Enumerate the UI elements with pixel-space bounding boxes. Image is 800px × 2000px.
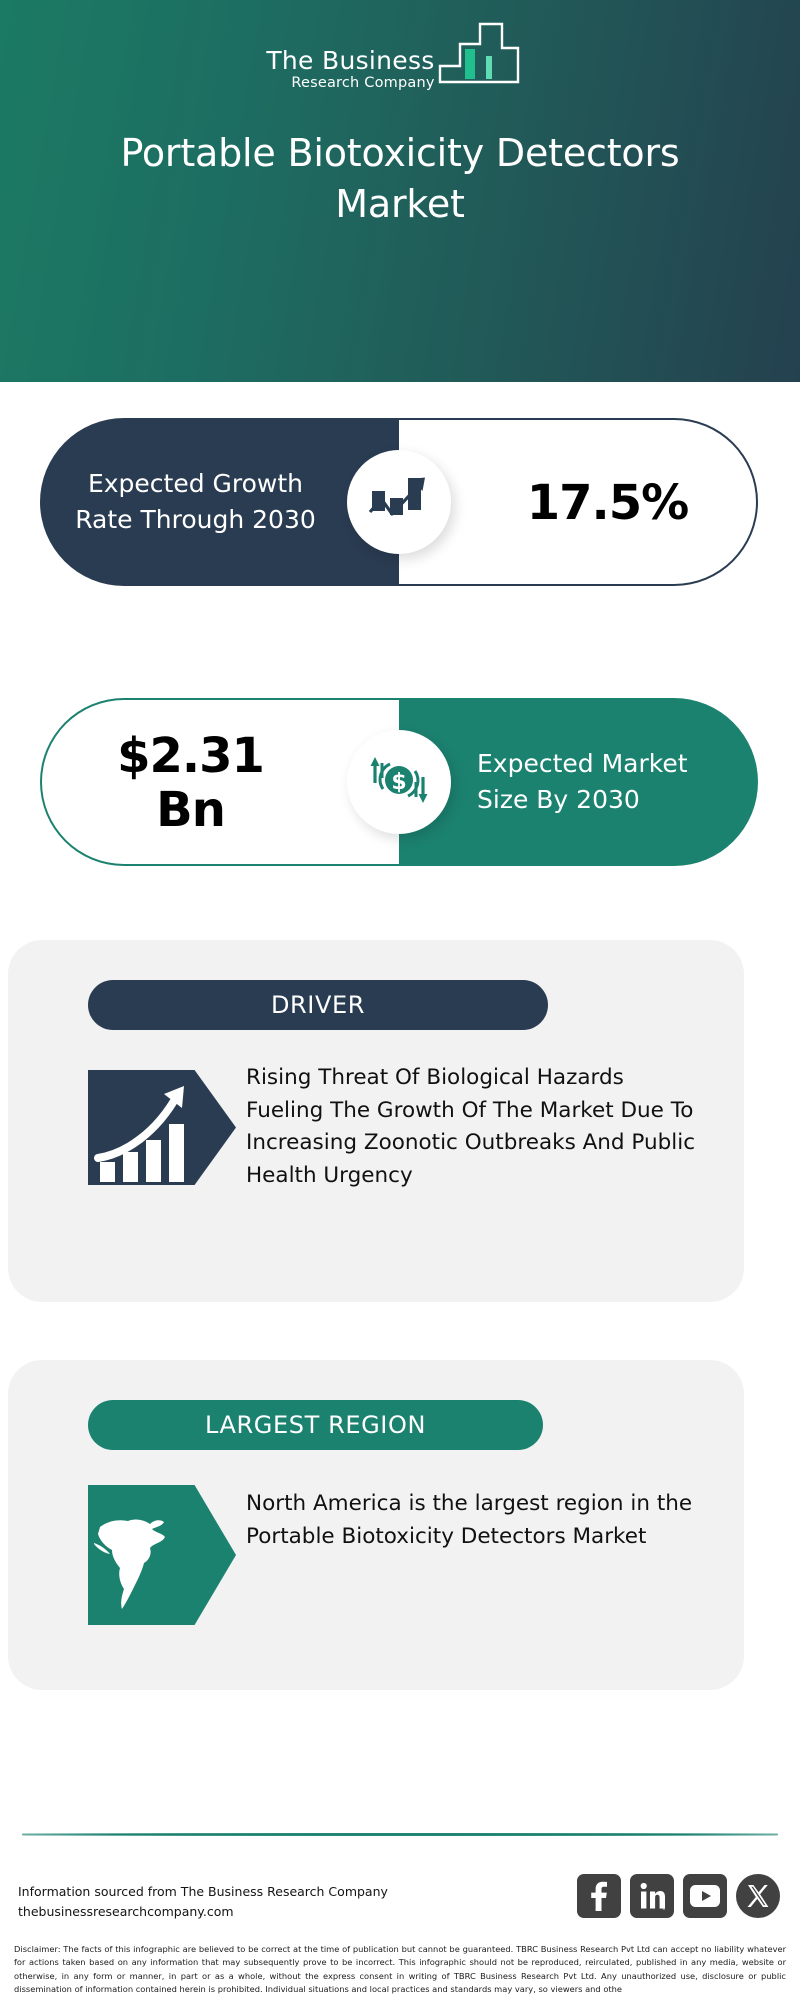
driver-pill: DRIVER — [88, 980, 548, 1030]
source-line-1: Information sourced from The Business Re… — [18, 1882, 468, 1902]
logo-line-1: The Business — [266, 48, 434, 73]
market-size-label: Expected Market Size By 2030 — [399, 698, 758, 866]
logo-line-2: Research Company — [291, 76, 434, 91]
growth-rate-value: 17.5% — [527, 477, 689, 531]
source-attribution: Information sourced from The Business Re… — [18, 1882, 468, 1923]
market-size-value-panel: $2.31 Bn — [40, 698, 399, 866]
footer-divider — [22, 1833, 778, 1836]
linkedin-icon[interactable]: ® — [630, 1874, 674, 1918]
stat-card-growth-rate: Expected Growth Rate Through 2030 17.5% — [40, 418, 758, 586]
disclaimer-text: Disclaimer: The facts of this infographi… — [14, 1943, 786, 2000]
market-size-value-line2: Bn — [156, 784, 225, 838]
growth-label-panel: Expected Growth Rate Through 2030 — [40, 418, 399, 586]
social-links: ® — [577, 1874, 780, 1918]
youtube-icon[interactable] — [683, 1874, 727, 1918]
dollar-cycle-icon-badge: $ — [347, 730, 451, 834]
driver-panel: DRIVER Rising Threat Of Biological Hazar… — [8, 940, 744, 1302]
growth-chart-icon — [368, 472, 430, 533]
facebook-icon[interactable] — [577, 1874, 621, 1918]
dollar-cycle-icon: $ — [367, 749, 431, 816]
svg-text:®: ® — [662, 1906, 665, 1910]
disclaimer-body: Disclaimer: The facts of this infographi… — [14, 1944, 786, 1994]
driver-pill-label: DRIVER — [271, 991, 365, 1019]
largest-region-pill: LARGEST REGION — [88, 1400, 543, 1450]
growth-value-panel: 17.5% — [399, 418, 758, 586]
stat-card-market-size: $2.31 Bn Expected Market Size By 2030 $ — [40, 698, 758, 866]
largest-region-panel: LARGEST REGION North America is the larg… — [8, 1360, 744, 1690]
bar-chart-logo-mark — [438, 22, 534, 90]
market-size-value-line1: $2.31 — [117, 730, 264, 784]
infographic-page: The Business Research Company Portable B… — [0, 0, 800, 2000]
largest-region-text: North America is the largest region in t… — [246, 1488, 696, 1553]
growth-rate-label: Expected Growth Rate Through 2030 — [40, 418, 399, 586]
page-title: Portable Biotoxicity Detectors Market — [50, 128, 750, 229]
source-line-2[interactable]: thebusinessresearchcompany.com — [18, 1902, 468, 1922]
growth-rate-value-wrap: 17.5% — [399, 420, 756, 588]
largest-region-pill-label: LARGEST REGION — [205, 1411, 426, 1439]
market-size-label-panel: Expected Market Size By 2030 — [399, 698, 758, 866]
x-twitter-icon[interactable] — [736, 1874, 780, 1918]
logo-text: The Business Research Company — [266, 48, 434, 91]
rising-bar-chart-icon — [88, 1070, 236, 1185]
svg-text:$: $ — [391, 770, 406, 795]
header-banner: The Business Research Company Portable B… — [0, 0, 800, 382]
market-size-value-wrap: $2.31 Bn — [42, 700, 399, 868]
growth-chart-icon-badge — [347, 450, 451, 554]
north-america-map-icon — [88, 1485, 236, 1625]
driver-text: Rising Threat Of Biological Hazards Fuel… — [246, 1062, 696, 1193]
company-logo: The Business Research Company — [0, 22, 800, 90]
